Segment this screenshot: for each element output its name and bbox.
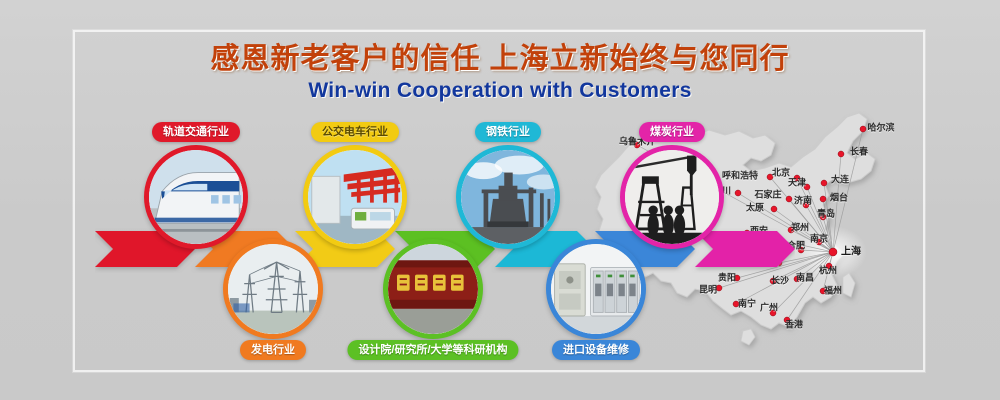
city-label: 长沙 <box>771 274 789 287</box>
city-label: 青岛 <box>817 207 835 220</box>
industry-pill-label[interactable]: 设计院/研究所/大学等科研机构 <box>347 340 518 360</box>
promotional-banner: 哈尔滨长春大连烟台北京天津呼和浩特石家庄济南青岛太原银川郑州西安合肥南京上海杭州… <box>0 0 1000 400</box>
city-label: 南昌 <box>796 271 814 284</box>
industry-circle-steel-blast-furnace[interactable] <box>456 145 560 249</box>
industry-pill-label[interactable]: 钢铁行业 <box>475 122 541 142</box>
electric-bus-station-photo <box>308 150 402 244</box>
city-label: 广州 <box>760 301 778 314</box>
page-title: 感恩新老客户的信任 上海立新始终与您同行 <box>0 42 1000 76</box>
city-label: 南宁 <box>738 297 756 310</box>
city-dot <box>821 180 827 186</box>
city-label: 香港 <box>785 318 803 331</box>
high-speed-train-photo <box>149 150 243 244</box>
city-label: 杭州 <box>819 264 837 277</box>
city-label: 南京 <box>810 232 828 245</box>
steel-blast-furnace-photo <box>461 150 555 244</box>
coal-mine-headframe-photo <box>625 150 719 244</box>
power-transmission-towers-photo <box>228 244 318 334</box>
page-subtitle: Win-win Cooperation with Customers <box>0 79 1000 103</box>
city-label: 烟台 <box>830 191 848 204</box>
city-label: 太原 <box>746 201 764 214</box>
industry-pill-label[interactable]: 轨道交通行业 <box>152 122 240 142</box>
city-label: 呼和浩特 <box>722 169 758 182</box>
industry-pill-label[interactable]: 煤炭行业 <box>639 122 705 142</box>
industry-circle-university-entrance-sign[interactable] <box>383 239 483 339</box>
industry-circle-electrical-switchgear[interactable] <box>546 239 646 339</box>
industry-circle-electric-bus-station[interactable] <box>303 145 407 249</box>
city-dot <box>860 126 866 132</box>
city-dot <box>820 196 826 202</box>
city-dot <box>786 196 792 202</box>
city-label: 福州 <box>824 284 842 297</box>
industry-pill-label[interactable]: 公交电车行业 <box>311 122 399 142</box>
city-label: 上海 <box>841 243 861 258</box>
city-dot <box>838 151 844 157</box>
electrical-switchgear-photo <box>551 244 641 334</box>
city-label: 昆明 <box>699 283 717 296</box>
industry-circle-coal-mine-headframe[interactable] <box>620 145 724 249</box>
city-label: 天津 <box>788 176 806 189</box>
city-label: 哈尔滨 <box>867 121 894 134</box>
city-label: 长春 <box>850 145 868 158</box>
industry-circle-high-speed-train[interactable] <box>144 145 248 249</box>
city-dot <box>735 190 741 196</box>
city-label: 大连 <box>831 173 849 186</box>
banner-heading: 感恩新老客户的信任 上海立新始终与您同行 Win-win Cooperation… <box>0 42 1000 103</box>
city-label: 济南 <box>794 194 812 207</box>
university-entrance-sign-photo <box>388 244 478 334</box>
industry-pill-label[interactable]: 进口设备维修 <box>552 340 640 360</box>
city-dot <box>829 248 837 256</box>
industry-pill-label[interactable]: 发电行业 <box>240 340 306 360</box>
city-label: 石家庄 <box>754 188 781 201</box>
ribbon-segment <box>695 231 795 267</box>
city-dot <box>771 206 777 212</box>
industry-circle-power-transmission-towers[interactable] <box>223 239 323 339</box>
